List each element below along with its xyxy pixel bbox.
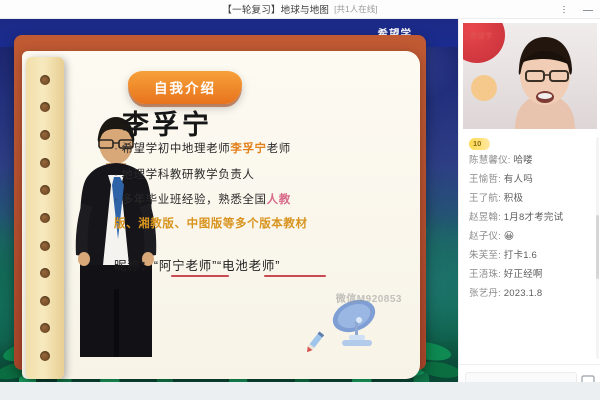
binder-hole-icon [40, 130, 50, 140]
binder-hole-icon [40, 296, 50, 306]
chat-text: 1月8才考完试 [504, 212, 563, 223]
chat-text: 好正经啊 [504, 269, 543, 280]
nickname-line: 昵称：“阿宁老师”“电池老师” [114, 255, 416, 274]
chat-author: 王愉哲: [469, 174, 501, 185]
window-controls [559, 0, 594, 19]
video-brand-logo: 希望学 [470, 31, 493, 41]
list-item: 张艺丹: 2023.1.8 [469, 288, 594, 300]
binder-hole-icon [40, 158, 50, 168]
app-root: 【一轮复习】地球与地图 [共1人在线] 希望学 [0, 0, 600, 400]
list-item: 赵子仪: 😀 [469, 231, 594, 244]
chat-emoji: 😀 [504, 231, 515, 242]
binder-hole-icon [40, 351, 50, 361]
binder-hole-icon [40, 323, 50, 333]
list-item: 朱芙至: 打卡1.6 [469, 250, 594, 262]
chat-panel[interactable]: 10 陈慧馨仪: 哈喽 王愉哲: 有人吗 王了航: 积极 赵昱翰: 1月8才考完… [459, 132, 600, 360]
chat-text: 打卡1.6 [504, 250, 537, 261]
chat-text: 2023.1.8 [504, 288, 543, 299]
chat-author: 张艺丹: [469, 288, 501, 299]
bullet-highlight: 李孚宁 [230, 143, 266, 155]
chat-text: 哈喽 [513, 155, 532, 166]
binder-hole-icon [40, 268, 50, 278]
chat-author: 王了航: [469, 193, 501, 204]
status-badge: 10 [469, 138, 490, 150]
notebook-binder [26, 57, 64, 379]
nickname-underlines [114, 274, 416, 284]
teacher-video[interactable]: 希望学 [463, 23, 597, 129]
list-item: 陈慧馨仪: 哈喽 [469, 155, 594, 167]
list-item: ·希望学初中地理老师李孚宁老师 [114, 142, 416, 156]
list-item: 王了航: 积极 [469, 193, 594, 205]
bullet-text-tail: 老师 [267, 143, 291, 155]
list-item: 王愉哲: 有人吗 [469, 174, 594, 186]
bullet-text: 希望学初中地理老师 [121, 143, 230, 155]
chat-scrollbar-thumb[interactable] [596, 215, 599, 279]
bullet-dot: · [114, 194, 118, 206]
bullet-highlight: 人教 [267, 194, 291, 206]
teacher-name: 李孚宁 [122, 111, 416, 139]
minimize-icon[interactable] [582, 4, 594, 16]
chat-author: 陈慧馨仪: [469, 155, 511, 166]
satellite-dish-icon [328, 297, 386, 351]
chat-author: 朱芙至: [469, 250, 501, 261]
slide-content: 自我介绍 李孚宁 ·希望学初中地理老师李孚宁老师 ·地理学科教研教学负责人 ·多… [86, 71, 416, 284]
binder-hole-icon [40, 102, 50, 112]
bullet-dot: · [114, 143, 118, 155]
chat-author: 赵子仪: [469, 231, 501, 242]
bullet-text: 多年毕业班经验，熟悉全国 [121, 194, 266, 206]
underline-mark [264, 275, 326, 277]
window-titlebar: 【一轮复习】地球与地图 [共1人在线] [0, 0, 600, 19]
slide-board: 自我介绍 李孚宁 ·希望学初中地理老师李孚宁老师 ·地理学科教研教学负责人 ·多… [14, 35, 426, 370]
list-item: ·地理学科教研教学负责人 [114, 168, 416, 182]
online-count: [共1人在线] [334, 3, 377, 15]
slide-stage[interactable]: 希望学 [0, 19, 458, 382]
chat-text: 积极 [504, 193, 523, 204]
list-item: ·多年毕业班经验，熟悉全国人教 [114, 193, 416, 207]
slide-page: 自我介绍 李孚宁 ·希望学初中地理老师李孚宁老师 ·地理学科教研教学负责人 ·多… [22, 51, 420, 379]
chat-text: 有人吗 [504, 174, 533, 185]
bullet-dot: · [114, 169, 118, 181]
list-item: 王浯珠: 好正经啊 [469, 269, 594, 281]
chat-author: 王浯珠: [469, 269, 501, 280]
list-item: 赵昱翰: 1月8才考完试 [469, 212, 594, 224]
binder-hole-icon [40, 75, 50, 85]
binder-hole-icon [40, 241, 50, 251]
bullet-list: ·希望学初中地理老师李孚宁老师 ·地理学科教研教学负责人 ·多年毕业班经验，熟悉… [114, 142, 416, 207]
continuation-line: 版、湘教版、中图版等多个版本教材 [114, 215, 416, 231]
binder-hole-icon [40, 185, 50, 195]
bullet-text: 地理学科教研教学负责人 [121, 169, 254, 181]
right-rail: 希望学 10 陈慧馨仪: 哈喽 王愉哲: 有人吗 [458, 19, 600, 400]
slide-section-pill: 自我介绍 [128, 71, 242, 104]
page-title: 【一轮复习】地球与地图 [222, 2, 329, 16]
more-vertical-icon[interactable] [559, 4, 569, 16]
binder-hole-icon [40, 213, 50, 223]
window-footer-strip [0, 382, 600, 400]
underline-mark [171, 275, 229, 277]
chat-author: 赵昱翰: [469, 212, 501, 223]
watermark-text: 微信M920853 [336, 290, 402, 305]
